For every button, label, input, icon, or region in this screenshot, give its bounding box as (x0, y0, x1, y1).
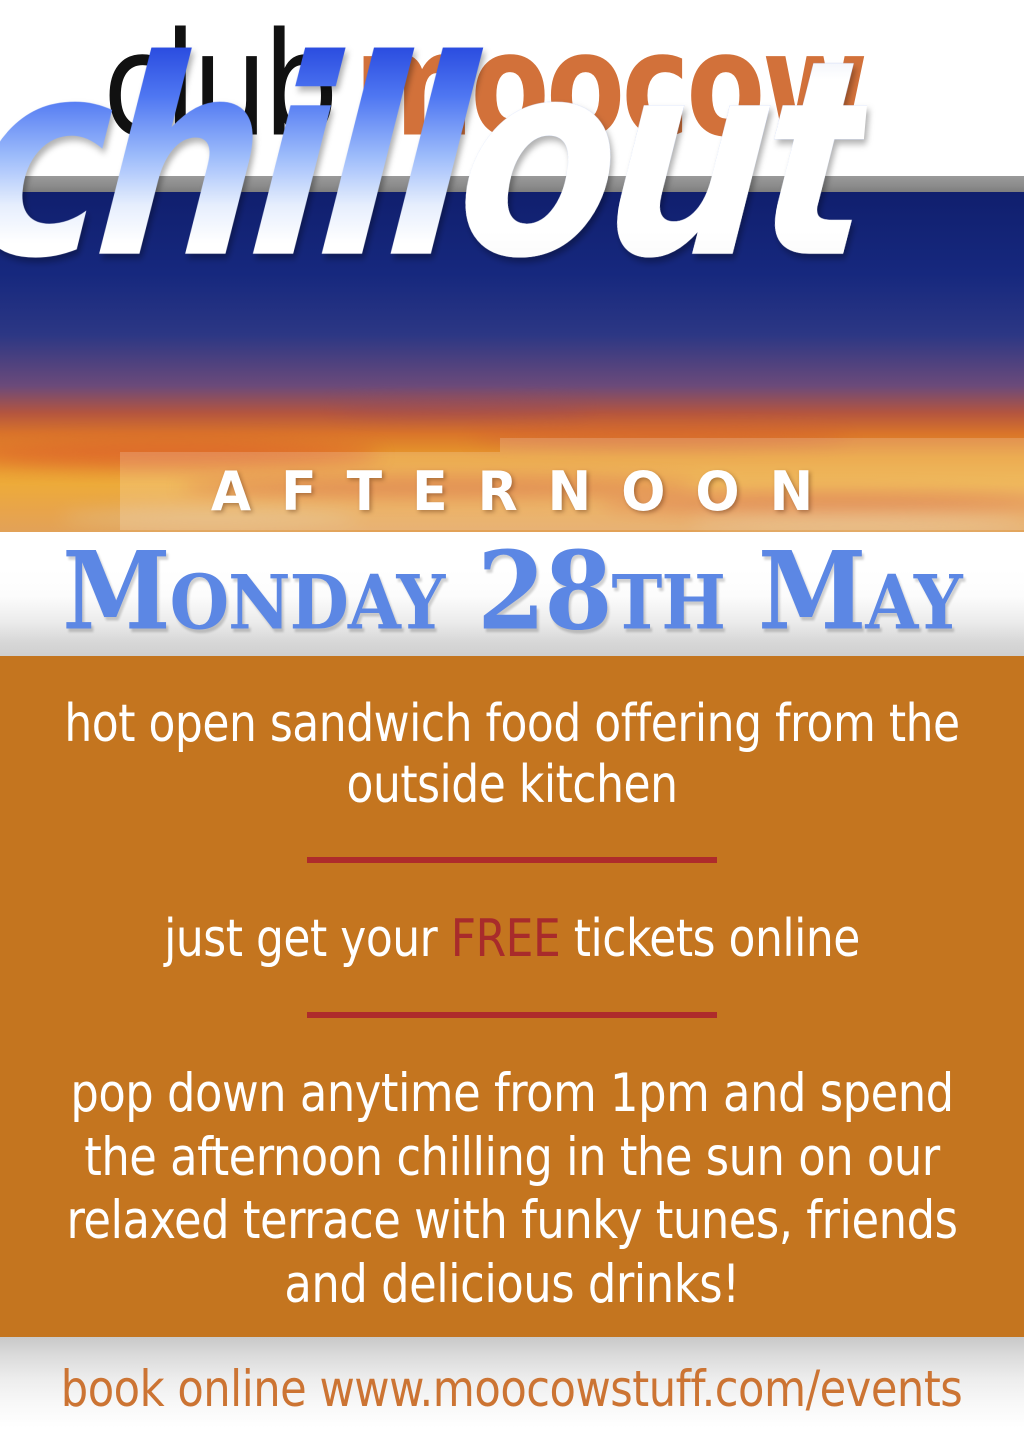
hero-title: chillout (0, 26, 874, 297)
event-date: Monday 28th May (0, 538, 1024, 646)
detail-tickets-suffix: tickets online (560, 909, 860, 969)
cloud-streak-icon (330, 400, 590, 414)
detail-tickets: just get your FREE tickets online (31, 909, 994, 970)
section-divider-2 (307, 1012, 717, 1018)
hero-title-chill: chill (0, 4, 475, 319)
section-divider-1 (307, 857, 717, 863)
hero-title-out: out (447, 4, 877, 319)
footer-band: book online www.moocowstuff.com/events (0, 1337, 1024, 1448)
booking-link[interactable]: book online www.moocowstuff.com/events (61, 1360, 963, 1418)
event-details-panel: hot open sandwich food offering from the… (0, 656, 1024, 1337)
date-band: Monday 28th May (0, 532, 1024, 656)
detail-food: hot open sandwich food offering from the… (31, 694, 994, 817)
event-poster: club moocow chillout AFTERNOON Monday 28… (0, 0, 1024, 1448)
hero-subtitle: AFTERNOON (0, 461, 1024, 524)
free-highlight: FREE (451, 909, 561, 969)
detail-tickets-prefix: just get your (164, 909, 451, 969)
detail-description: pop down anytime from 1pm and spend the … (31, 1062, 994, 1316)
